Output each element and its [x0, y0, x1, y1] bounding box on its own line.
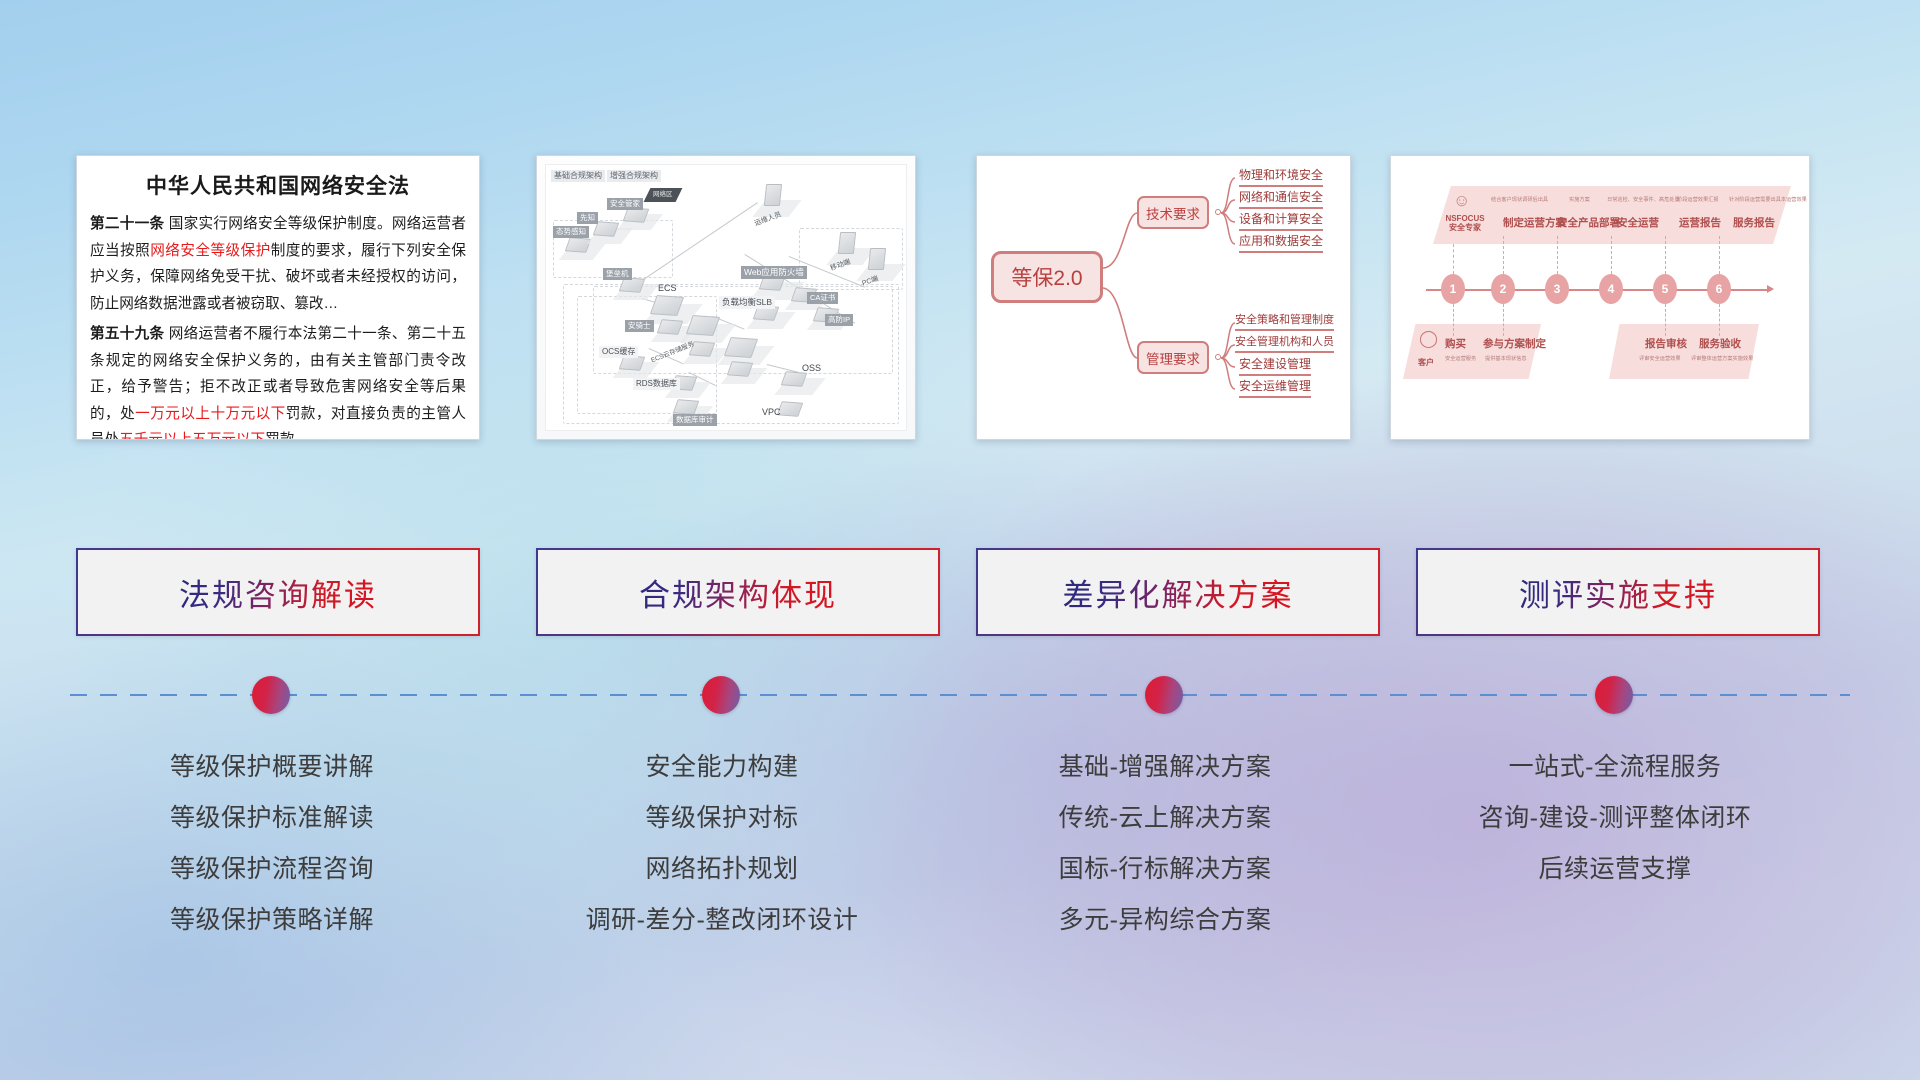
flow-step-marker-4[interactable]: 4: [1599, 274, 1623, 304]
arch-label-oss: OSS: [799, 362, 824, 375]
customer-person-icon: ◯: [1419, 330, 1438, 347]
list-item: 基础-增强解决方案: [955, 742, 1375, 793]
mindmap-leaf: 安全运维管理: [1239, 377, 1311, 398]
list-item: 等级保护对标: [512, 793, 932, 844]
law-article-59: 第五十九条 网络运营者不履行本法第二十一条、第二十五条规定的网络安全保护义务的，…: [90, 321, 466, 440]
flow-customer-sub: 评审安全运营效果: [1639, 355, 1681, 362]
flow-role-customer: 客户: [1409, 358, 1443, 367]
list-item: 安全能力构建: [512, 742, 932, 793]
timeline-dot-2[interactable]: [1145, 676, 1183, 714]
flow-step-title: 运营报告: [1679, 215, 1721, 230]
mindmap-collapse-dot[interactable]: [1215, 354, 1221, 360]
arch-label-ecs: ECS: [655, 282, 680, 295]
mindmap-leaf: 网络和通信安全: [1239, 188, 1323, 209]
expert-person-icon: ☺: [1453, 192, 1470, 209]
flow-customer-sub: 评审整体运营方案实施效果: [1691, 355, 1753, 362]
list-item: 传统-云上解决方案: [955, 793, 1375, 844]
flow-step-marker-2[interactable]: 2: [1491, 274, 1515, 304]
list-item: 国标-行标解决方案: [955, 844, 1375, 895]
flow-leader: [1719, 236, 1720, 274]
flow-leader: [1503, 304, 1504, 336]
flow-step-marker-1[interactable]: 1: [1441, 274, 1465, 304]
flow-leader: [1665, 236, 1666, 274]
list-item: 多元-异构综合方案: [955, 895, 1375, 946]
section-title-box-2[interactable]: 差异化解决方案: [976, 548, 1380, 636]
section-title-box-0[interactable]: 法规咨询解读: [76, 548, 480, 636]
arch-label-situational-awareness: 态势感知: [553, 226, 589, 238]
arch-label-db-audit: 数据库审计: [673, 414, 717, 426]
slide-canvas: 中华人民共和国网络安全法 第二十一条 国家实行网络安全等级保护制度。网络运营者应…: [0, 0, 1920, 1080]
arch-label-security-butler: 安全管家: [607, 198, 643, 210]
flow-step-sub: 针对阶段运营需要出具本运营效果: [1729, 196, 1807, 203]
section-items-3: 一站式-全流程服务 咨询-建设-测评整体闭环 后续运营支撑: [1405, 742, 1825, 895]
mindmap-leaf: 设备和计算安全: [1239, 210, 1323, 231]
flow-role-expert: NSFOCUS 安全专家: [1438, 214, 1492, 232]
list-item: 调研-差分-整改闭环设计: [512, 895, 932, 946]
flow-step-marker-3[interactable]: 3: [1545, 274, 1569, 304]
card-compliance-architecture: 基础合规架构 增强合规架构 态势感知 先知: [536, 155, 916, 440]
flow-leader: [1557, 236, 1558, 274]
arch-label-vpc: VPC: [759, 406, 784, 419]
mindmap-leaf: 安全建设管理: [1239, 355, 1311, 376]
flow-role-expert-brand: NSFOCUS: [1445, 214, 1484, 223]
law-article-21: 第二十一条 国家实行网络安全等级保护制度。网络运营者应当按照网络安全等级保护制度…: [90, 211, 466, 317]
flow-leader: [1611, 236, 1612, 274]
mindmap-leaf: 物理和环境安全: [1239, 166, 1323, 187]
arch-label-aegis: 安骑士: [625, 320, 654, 332]
section-title-text-3: 测评实施支持: [1519, 570, 1717, 615]
flow-customer-sub: 安全运营服务: [1445, 355, 1476, 362]
card-dengbao-mindmap: 等保2.0 技术要求 管理要求 物理和环境安全 网络和通信安全 设备和计算安全 …: [976, 155, 1351, 440]
mindmap-leaf: 应用和数据安全: [1239, 232, 1323, 253]
list-item: 网络拓扑规划: [512, 844, 932, 895]
flow-step-sub: 阶段运营效果汇报: [1677, 196, 1719, 203]
mindmap-branch-technical: 技术要求: [1137, 196, 1209, 229]
flow-band-customer-right: [1609, 324, 1759, 379]
section-title-text-1: 合规架构体现: [639, 570, 837, 615]
list-item: 等级保护标准解读: [62, 793, 482, 844]
card-cybersecurity-law: 中华人民共和国网络安全法 第二十一条 国家实行网络安全等级保护制度。网络运营者应…: [76, 155, 480, 440]
section-items-1: 安全能力构建 等级保护对标 网络拓扑规划 调研-差分-整改闭环设计: [512, 742, 932, 946]
arch-label-rds-database: RDS数据库: [633, 378, 680, 390]
arch-tab-basic[interactable]: 基础合规架构: [551, 170, 605, 182]
flow-leader: [1453, 304, 1454, 336]
flow-arrow-icon: [1767, 285, 1774, 293]
mindmap: 等保2.0 技术要求 管理要求 物理和环境安全 网络和通信安全 设备和计算安全 …: [977, 156, 1350, 439]
mindmap-branch-management: 管理要求: [1137, 341, 1209, 374]
arch-label-slb: 负载均衡SLB: [719, 296, 775, 309]
flow-customer-title: 服务验收: [1699, 336, 1741, 351]
law-highlight: 五千元以上五万元以下: [119, 432, 265, 440]
mindmap-leaf: 安全策略和管理制度: [1235, 311, 1334, 331]
mindmap-collapse-dot[interactable]: [1215, 209, 1221, 215]
timeline-dashed-line: [70, 694, 1850, 696]
arch-label-ca-cert: CA证书: [807, 292, 838, 304]
flow-step-title: 服务报告: [1733, 215, 1775, 230]
flow-step-title: 安全运营: [1617, 215, 1659, 230]
flow-leader: [1503, 236, 1504, 274]
section-title-box-3[interactable]: 测评实施支持: [1416, 548, 1820, 636]
flow-step-marker-5[interactable]: 5: [1653, 274, 1677, 304]
card-service-flow: ☺ NSFOCUS 安全专家 ◯ 客户 结合客户现状调研后出具 制定运营方案 实…: [1390, 155, 1810, 440]
section-items-2: 基础-增强解决方案 传统-云上解决方案 国标-行标解决方案 多元-异构综合方案: [955, 742, 1375, 946]
section-title-text-0: 法规咨询解读: [179, 570, 377, 615]
section-title-text-2: 差异化解决方案: [1063, 570, 1294, 615]
arch-node-icon: [868, 248, 886, 270]
arch-label-network-zone: 网络区: [650, 190, 676, 201]
flow-step-sub: 结合客户现状调研后出具: [1491, 196, 1548, 203]
law-article-21-label: 第二十一条: [90, 216, 164, 232]
law-highlight: 一万元以上十万元以下: [135, 406, 286, 422]
timeline-dot-0[interactable]: [252, 676, 290, 714]
section-items-0: 等级保护概要讲解 等级保护标准解读 等级保护流程咨询 等级保护策略详解: [62, 742, 482, 946]
section-title-box-1[interactable]: 合规架构体现: [536, 548, 940, 636]
flow-role-expert-title: 安全专家: [1449, 223, 1481, 232]
mindmap-root-node: 等保2.0: [991, 251, 1103, 303]
list-item: 等级保护流程咨询: [62, 844, 482, 895]
law-text: 罚款。: [265, 432, 309, 440]
service-flow-diagram: ☺ NSFOCUS 安全专家 ◯ 客户 结合客户现状调研后出具 制定运营方案 实…: [1391, 156, 1809, 439]
flow-leader: [1719, 304, 1720, 336]
timeline-dot-1[interactable]: [702, 676, 740, 714]
flow-step-title: 安全产品部署: [1557, 215, 1620, 230]
arch-label-ocs-cache: OCS缓存: [599, 346, 638, 358]
flow-step-sub: 实施方案: [1569, 196, 1590, 203]
arch-label-xianzhi: 先知: [577, 212, 598, 224]
flow-customer-title: 报告审核: [1645, 336, 1687, 351]
timeline-dot-3[interactable]: [1595, 676, 1633, 714]
list-item: 等级保护概要讲解: [62, 742, 482, 793]
arch-tab-enhanced[interactable]: 增强合规架构: [607, 170, 661, 182]
architecture-diagram: 基础合规架构 增强合规架构 态势感知 先知: [537, 156, 915, 439]
flow-customer-title: 参与方案制定: [1483, 336, 1546, 351]
arch-label-waf: Web应用防火墙: [741, 266, 807, 279]
law-article-59-label: 第五十九条: [90, 326, 164, 342]
list-item: 等级保护策略详解: [62, 895, 482, 946]
list-item: 后续运营支撑: [1405, 844, 1825, 895]
list-item: 一站式-全流程服务: [1405, 742, 1825, 793]
list-item: 咨询-建设-测评整体闭环: [1405, 793, 1825, 844]
flow-leader: [1453, 244, 1454, 274]
flow-step-sub: 日常巡检、安全事件、高危处置: [1607, 196, 1680, 203]
mindmap-leaf: 安全管理机构和人员: [1235, 333, 1334, 353]
flow-customer-title: 购买: [1445, 336, 1466, 351]
arch-node-icon: [838, 232, 856, 254]
arch-label-bastion-host: 堡垒机: [603, 268, 632, 280]
law-title: 中华人民共和国网络安全法: [77, 170, 479, 200]
law-body: 第二十一条 国家实行网络安全等级保护制度。网络运营者应当按照网络安全等级保护制度…: [77, 211, 479, 440]
flow-step-marker-6[interactable]: 6: [1707, 274, 1731, 304]
flow-customer-sub: 提供基本现状信息: [1485, 355, 1527, 362]
law-highlight: 网络安全等级保护: [150, 243, 270, 259]
arch-label-anti-ddos-ip: 高防IP: [825, 314, 853, 326]
flow-leader: [1665, 304, 1666, 336]
arch-node-icon: [764, 184, 782, 206]
